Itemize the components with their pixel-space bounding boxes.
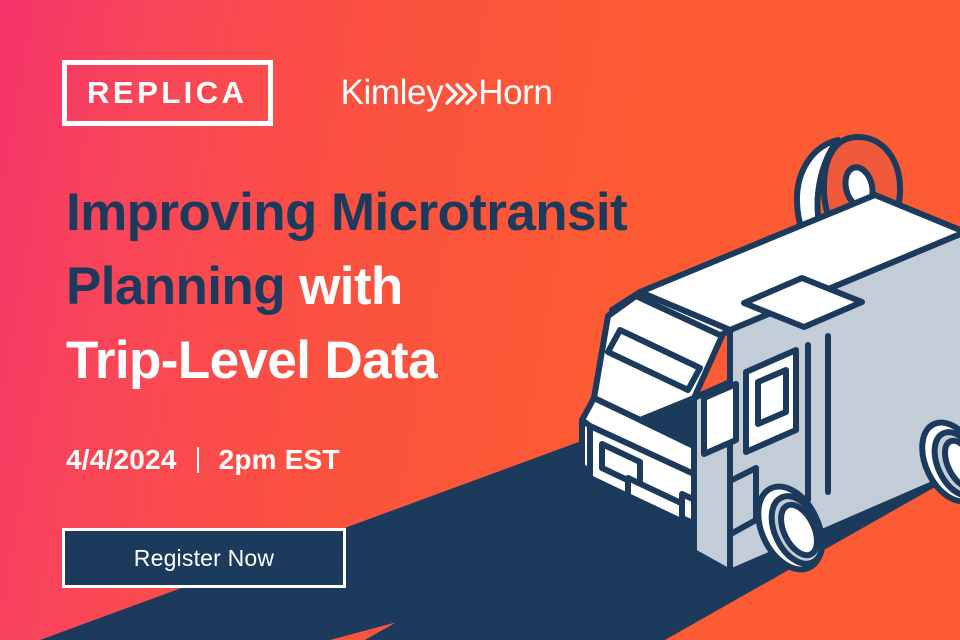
replica-logo[interactable]: REPLICA <box>62 60 273 126</box>
event-time: 2pm EST <box>219 444 340 476</box>
headline: Improving Microtransit Planning with Tri… <box>66 176 627 399</box>
front-wheel-icon <box>746 476 835 580</box>
kimley-horn-second-word: Horn <box>478 73 552 113</box>
rear-wheel-icon <box>910 413 960 511</box>
kimley-horn-first-word: Kimley <box>341 73 444 113</box>
kimley-horn-logo[interactable]: Kimley Horn <box>341 73 553 113</box>
replica-logo-text: REPLICA <box>87 77 248 108</box>
headline-line-2: Planning with <box>66 250 627 324</box>
logo-row: REPLICA Kimley Horn <box>62 60 552 126</box>
datetime-separator-icon <box>197 447 199 473</box>
map-pin-icon <box>797 137 900 262</box>
headline-line-1: Improving Microtransit <box>66 176 627 250</box>
headline-line-2-white: with <box>299 257 403 316</box>
shuttle-van-icon <box>582 195 960 580</box>
register-now-button[interactable]: Register Now <box>62 528 346 588</box>
headline-line-2-navy: Planning <box>66 257 285 316</box>
triple-chevron-right-icon <box>445 80 477 106</box>
event-date: 4/4/2024 <box>66 444 177 476</box>
webinar-promo-banner: REPLICA Kimley Horn Improving Microtrans… <box>0 0 960 640</box>
headline-line-3: Trip-Level Data <box>66 324 627 398</box>
event-datetime: 4/4/2024 2pm EST <box>66 444 340 476</box>
